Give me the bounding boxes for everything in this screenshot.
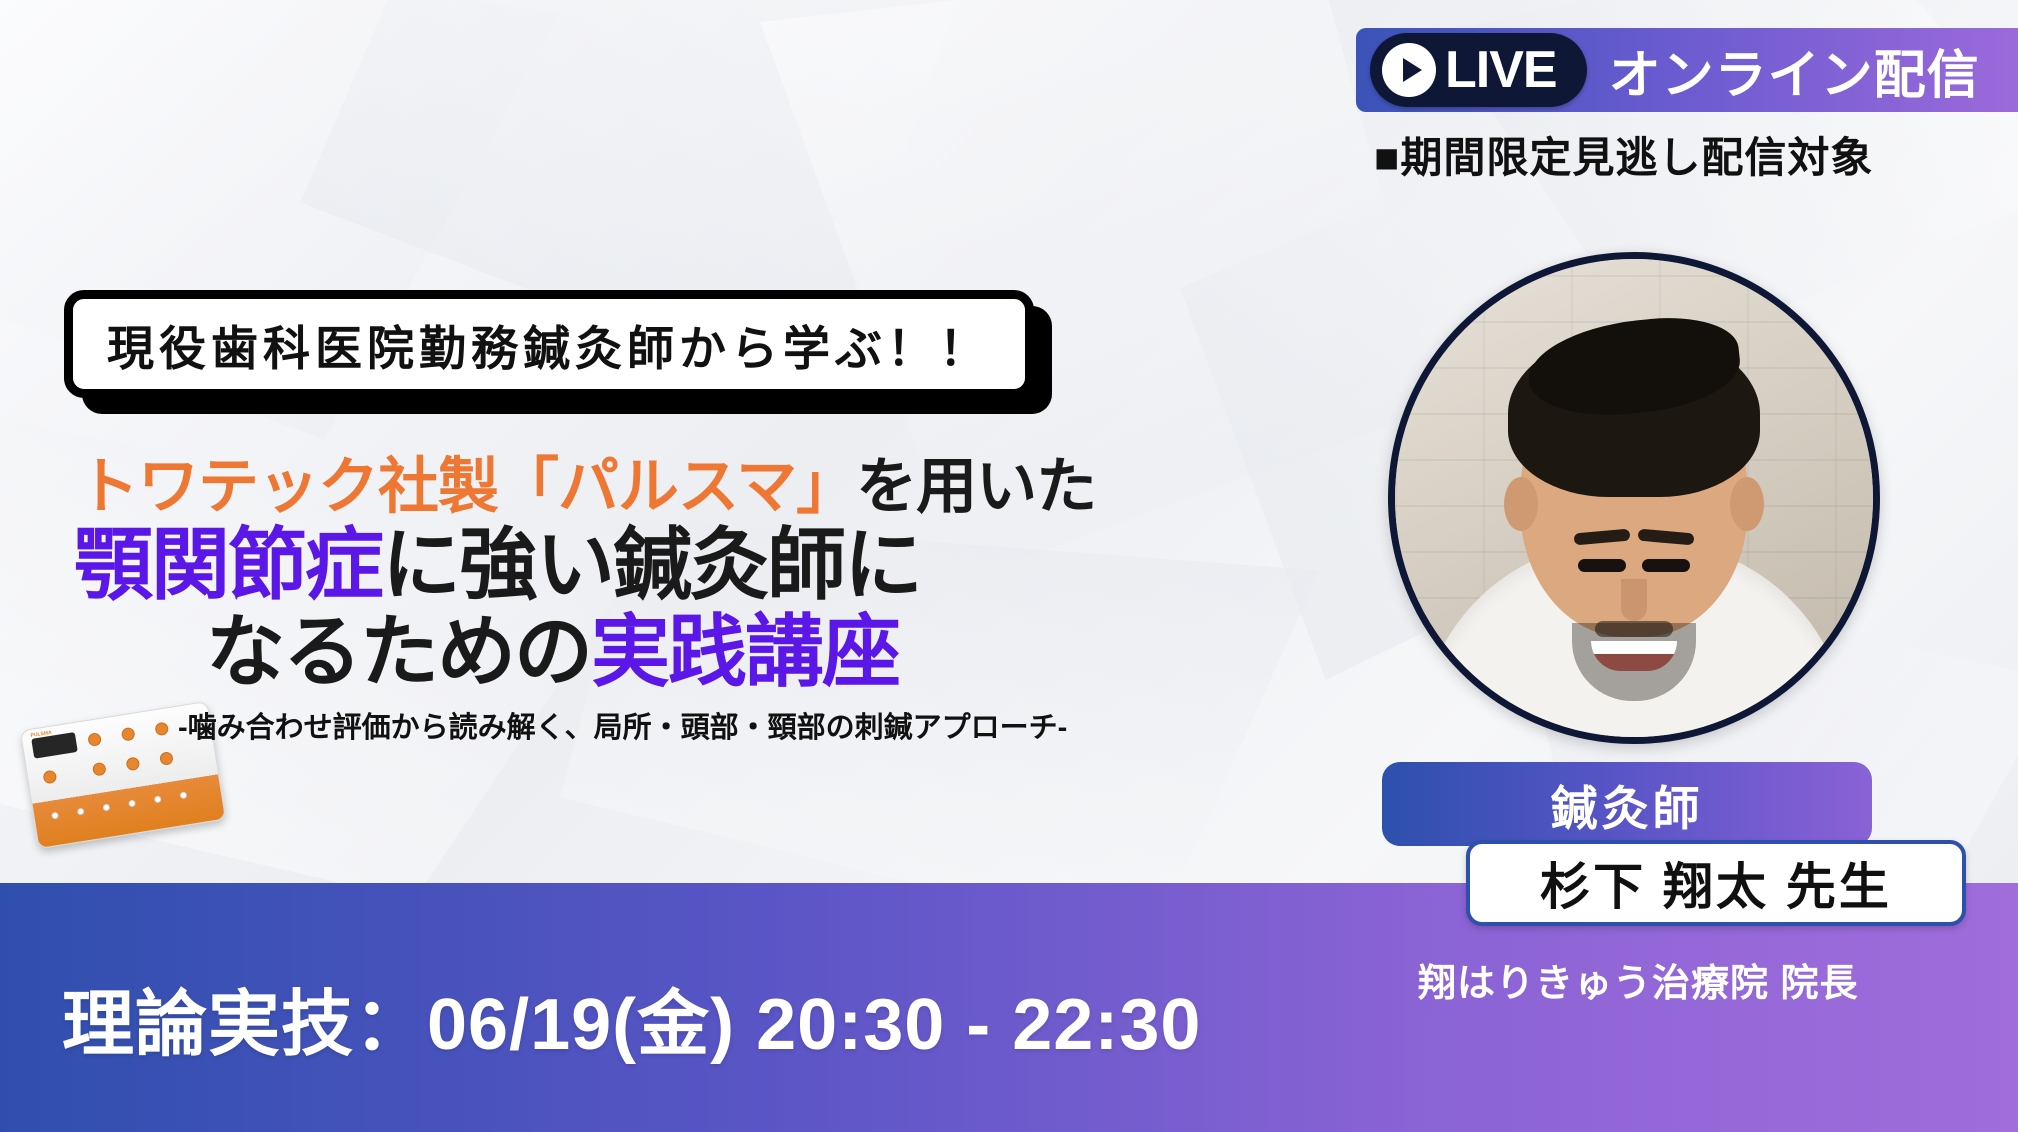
headline-box: 現役歯科医院勤務鍼灸師から学ぶ！！	[64, 290, 1034, 398]
live-banner: LIVE オンライン配信	[1356, 28, 2018, 112]
limited-archive-note: ■期間限定見逃し配信対象	[1374, 124, 1873, 185]
speaker-name: 杉下 翔太 先生	[1540, 847, 1892, 919]
speaker-role: 鍼灸師	[1551, 770, 1704, 839]
speaker-portrait	[1388, 252, 1880, 744]
main-title: トワテック社製「パルスマ」を用いた 顎関節症に強い鍼灸師に なるための実践講座 …	[0, 455, 1080, 746]
title-subtitle: -噛み合わせ評価から読み解く、局所・頭部・頸部の刺鍼アプローチ-	[0, 704, 1080, 746]
live-label: LIVE	[1445, 44, 1557, 96]
headline-text: 現役歯科医院勤務鍼灸師から学ぶ！！	[107, 310, 991, 379]
live-badge: LIVE	[1370, 33, 1587, 107]
speaker-role-pill: 鍼灸師	[1382, 762, 1872, 846]
title-line1-highlight: トワテック社製「パルスマ」	[78, 452, 856, 520]
speaker-clinic: 翔はりきゅう治療院 院長	[1418, 952, 1859, 1007]
title-line3-highlight: 実践講座	[591, 607, 899, 696]
play-icon	[1382, 43, 1436, 97]
schedule-text: 理論実技：06/19(金) 20:30 - 22:30	[62, 965, 1201, 1070]
title-line2-highlight: 顎関節症	[74, 520, 382, 609]
webinar-poster: LIVE オンライン配信 ■期間限定見逃し配信対象 現役歯科医院勤務鍼灸師から学…	[0, 0, 2018, 1132]
title-line3-rest: なるための	[206, 607, 591, 696]
title-line1-rest: を用いた	[856, 452, 1096, 520]
online-streaming-label: オンライン配信	[1609, 33, 1980, 108]
speaker-name-card: 杉下 翔太 先生	[1466, 840, 1966, 926]
title-line2-rest: に強い鍼灸師に	[382, 520, 921, 609]
